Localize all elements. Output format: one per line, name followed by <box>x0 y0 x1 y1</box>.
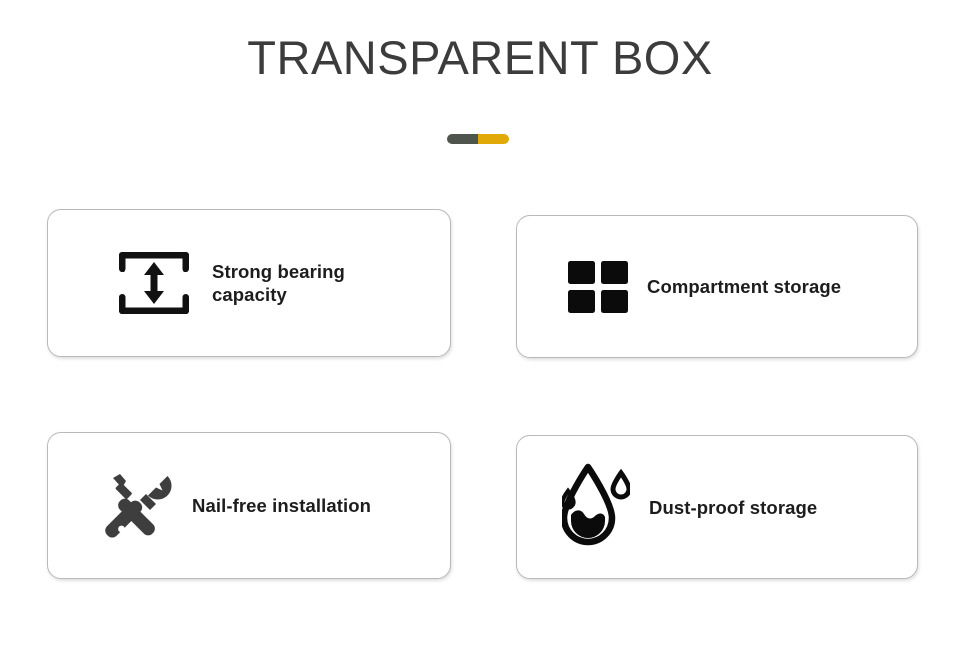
bearing-capacity-icon <box>108 248 200 318</box>
feature-highlight-page: TRANSPARENT BOX <box>0 0 960 656</box>
feature-card-strong-bearing-capacity[interactable]: Strong bearing capacity <box>47 209 451 357</box>
title-divider <box>447 134 509 144</box>
page-title: TRANSPARENT BOX <box>0 26 960 90</box>
feature-card-label: Nail-free installation <box>192 494 371 517</box>
grid-compartment-icon <box>567 261 629 313</box>
divider-right-segment <box>478 134 509 144</box>
water-droplet-icon <box>561 461 631 553</box>
feature-card-label: Compartment storage <box>647 275 841 298</box>
feature-card-label: Strong bearing capacity <box>212 260 382 306</box>
feature-card-label: Dust-proof storage <box>649 496 817 519</box>
wrench-screwdriver-icon <box>100 470 182 542</box>
feature-card-nail-free-installation[interactable]: Nail-free installation <box>47 432 451 579</box>
feature-card-dust-proof-storage[interactable]: Dust-proof storage <box>516 435 918 579</box>
divider-left-segment <box>447 134 478 144</box>
feature-card-compartment-storage[interactable]: Compartment storage <box>516 215 918 358</box>
